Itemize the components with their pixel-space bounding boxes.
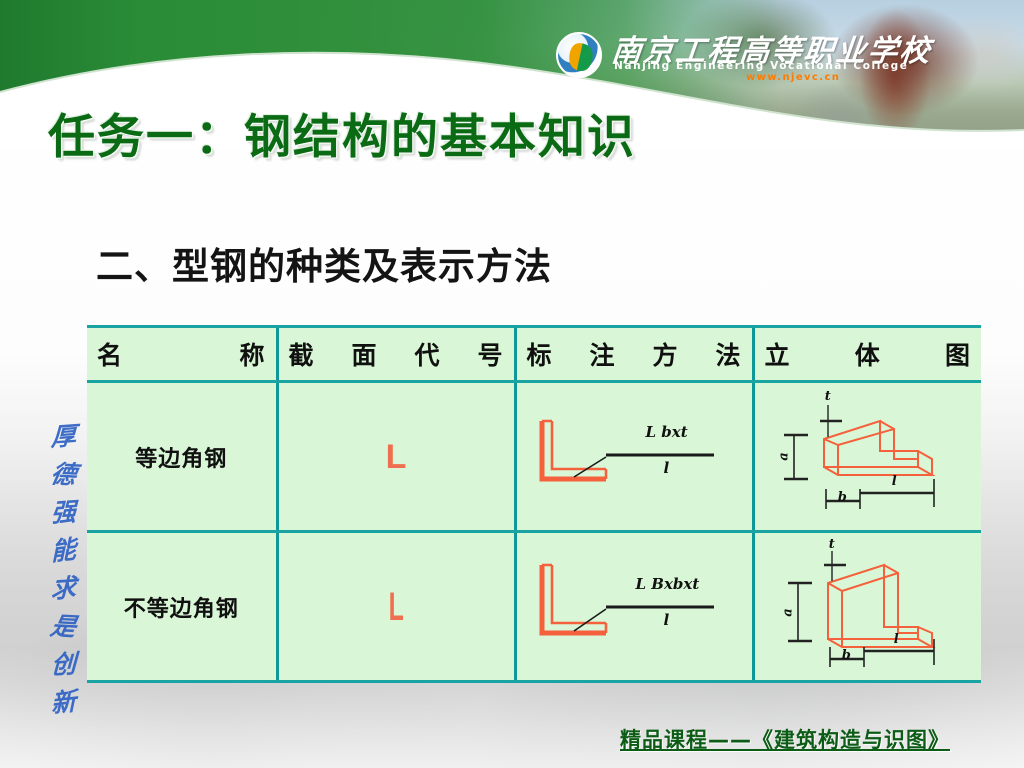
marking-svg <box>518 547 758 667</box>
school-motto-vertical: 厚 德 强 能 求 是 创 新 <box>44 424 84 728</box>
cell-section-symbol: L <box>277 532 515 682</box>
marking-denominator: l <box>664 611 670 629</box>
motto-char: 创 <box>51 651 77 678</box>
section-subtitle: 二、型钢的种类及表示方法 <box>96 236 552 290</box>
cell-marking: L Bxbxt l <box>515 532 753 682</box>
steel-section-table: 名 称 截面代号 标注方法 立体图 等边角钢 L <box>87 325 981 669</box>
marking-diagram-unequal-angle: L Bxbxt l <box>518 547 758 667</box>
cell-3d-view: t a b l <box>753 532 981 682</box>
row-name-label: 等边角钢 <box>135 447 227 472</box>
slide-canvas: 南京工程高等职业学校 Nanjing Engineering Vocationa… <box>0 0 1024 768</box>
dim-width: b <box>838 490 847 505</box>
cell-section-symbol: L <box>277 382 515 532</box>
marking-denominator: l <box>664 459 670 477</box>
motto-char: 德 <box>49 461 79 487</box>
school-url: www.njevc.cn <box>746 72 840 83</box>
page-title: 任务一：钢结构的基本知识 <box>48 112 636 164</box>
marking-diagram-equal-angle: L bxt l <box>518 397 758 517</box>
table-row: 不等边角钢 L <box>87 532 981 682</box>
column-header-3d-view: 立体图 <box>753 327 981 382</box>
cell-name: 等边角钢 <box>87 382 277 532</box>
dim-height: a <box>776 452 791 460</box>
marking-svg <box>518 397 758 517</box>
motto-char: 强 <box>51 499 77 526</box>
view-svg <box>768 389 968 524</box>
column-header-section-symbol: 截面代号 <box>277 327 515 382</box>
dim-width: b <box>842 648 851 663</box>
cell-marking: L bxt l <box>515 382 753 532</box>
course-footer: 精品课程——《建筑构造与识图》 <box>620 724 950 754</box>
dim-height: a <box>780 608 795 616</box>
dim-length: l <box>892 474 897 489</box>
equal-angle-symbol: L <box>386 438 407 476</box>
table-header-row: 名 称 截面代号 标注方法 立体图 <box>87 327 981 382</box>
school-name-en: Nanjing Engineering Vocational College <box>614 60 909 72</box>
school-logo: 南京工程高等职业学校 Nanjing Engineering Vocationa… <box>556 28 856 84</box>
column-header-name: 名 称 <box>87 327 277 382</box>
dim-thickness: t <box>825 389 831 404</box>
dim-length: l <box>894 632 899 647</box>
motto-char: 求 <box>51 575 77 602</box>
marking-numerator: L Bxbxt <box>636 575 700 593</box>
cell-name: 不等边角钢 <box>87 532 277 682</box>
school-emblem-icon <box>556 32 602 78</box>
motto-char: 新 <box>51 688 77 716</box>
dim-thickness: t <box>829 537 835 552</box>
motto-char: 是 <box>49 613 79 639</box>
unequal-angle-symbol: L <box>388 587 403 627</box>
row-name-label: 不等边角钢 <box>124 597 239 622</box>
view-diagram-equal-angle: t a b l <box>768 389 968 524</box>
motto-char: 能 <box>51 536 77 564</box>
view-diagram-unequal-angle: t a b l <box>768 539 968 674</box>
column-header-marking-method: 标注方法 <box>515 327 753 382</box>
motto-char: 厚 <box>51 423 77 450</box>
marking-numerator: L bxt <box>646 423 688 441</box>
cell-3d-view: t a b l <box>753 382 981 532</box>
view-svg <box>768 539 968 674</box>
table-row: 等边角钢 L <box>87 382 981 532</box>
